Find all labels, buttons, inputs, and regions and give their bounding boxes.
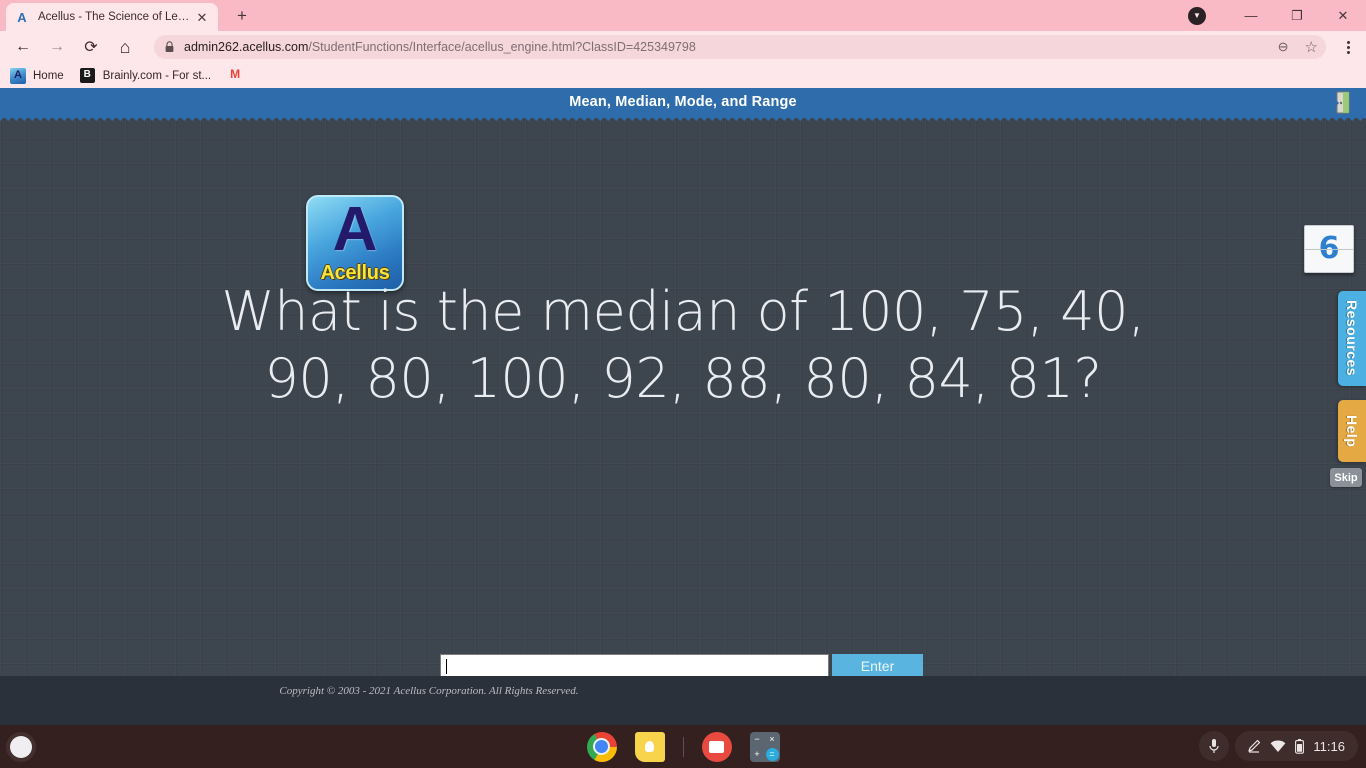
browser-window: A Acellus - The Science of Learning ✕ + … [0,0,1366,725]
chrome-icon[interactable] [587,732,617,762]
window-controls: ▼ — ❐ ✕ [1188,0,1366,31]
browser-tab[interactable]: A Acellus - The Science of Learning ✕ [6,3,218,31]
gmail-icon: M [227,68,243,84]
minimize-button[interactable]: — [1228,0,1274,31]
wifi-icon [1270,740,1286,753]
url-domain: admin262.acellus.com [184,40,308,54]
problem-counter: 6 [1304,225,1354,273]
help-tab[interactable]: Help [1338,400,1366,462]
battery-icon [1295,739,1304,754]
logo-letter: A [308,199,402,261]
acellus-icon: A [10,68,26,84]
acellus-logo: A Acellus [306,195,404,291]
bookmark-label: Brainly.com - For st... [103,70,211,82]
shelf-divider [683,737,684,757]
calc-times: × [769,735,774,744]
lock-icon [164,41,175,53]
copyright-text: Copyright © 2003 - 2021 Acellus Corporat… [0,685,858,697]
answer-input[interactable] [440,654,829,678]
url-path: /StudentFunctions/Interface/acellus_engi… [308,40,695,54]
new-tab-button[interactable]: + [230,4,254,28]
text-caret [446,659,447,674]
bookmark-star-icon[interactable]: ☆ [1305,38,1318,56]
microphone-icon[interactable] [1199,731,1229,761]
home-icon[interactable]: ⌂ [110,32,140,62]
acellus-lesson-page: Mean, Median, Mode, and Range A Acellus … [0,88,1366,725]
bookmark-gmail[interactable]: M [227,68,243,84]
page-footer: Copyright © 2003 - 2021 Acellus Corporat… [0,676,1366,725]
calc-plus: + [754,750,759,759]
zoom-icon[interactable]: ⊖ [1278,39,1289,55]
forward-icon[interactable]: → [42,32,72,62]
address-bar[interactable]: admin262.acellus.com/StudentFunctions/In… [154,35,1326,59]
resources-tab[interactable]: Resources [1338,291,1366,386]
chrome-menu-icon[interactable] [1334,33,1362,61]
status-area[interactable]: 11:16 [1235,731,1358,761]
page-title: Mean, Median, Mode, and Range [0,88,1366,118]
lesson-header-bar: Mean, Median, Mode, and Range [0,88,1366,118]
close-icon[interactable]: ✕ [194,9,210,25]
chromeos-shelf: − × + = [0,725,1366,768]
bookmark-home[interactable]: A Home [10,68,64,84]
maximize-button[interactable]: ❐ [1274,0,1320,31]
clock: 11:16 [1313,739,1345,754]
url-text: admin262.acellus.com/StudentFunctions/In… [184,40,696,54]
browser-toolbar: ← → ⟳ ⌂ admin262.acellus.com/StudentFunc… [0,31,1366,63]
omnibox-icons: ⊖ ☆ [1278,38,1318,56]
counter-value: 6 [1305,226,1353,272]
close-window-button[interactable]: ✕ [1320,0,1366,31]
bookmarks-bar: A Home B Brainly.com - For st... M [0,63,1366,88]
acellus-icon: A [14,9,30,25]
calc-equals: = [766,748,779,761]
keep-icon[interactable] [635,732,665,762]
question-text: What is the median of 100, 75, 40, 90, 8… [183,278,1183,412]
tab-strip: A Acellus - The Science of Learning ✕ + … [0,0,1366,31]
photos-icon[interactable] [702,732,732,762]
profile-avatar[interactable]: ▼ [1188,7,1206,25]
tab-title: Acellus - The Science of Learning [38,11,194,23]
brainly-icon: B [80,68,96,84]
exit-door-icon[interactable] [1332,90,1354,116]
bookmark-brainly[interactable]: B Brainly.com - For st... [80,68,211,84]
shelf-app-list: − × + = [0,725,1366,768]
back-icon[interactable]: ← [8,32,38,62]
calc-minus: − [754,735,759,744]
answer-row: Enter [440,654,923,678]
bookmark-label: Home [33,70,64,82]
system-tray: 11:16 [1199,731,1358,761]
skip-button[interactable]: Skip [1330,468,1362,487]
calculator-icon[interactable]: − × + = [750,732,780,762]
stylus-icon [1247,739,1261,754]
reload-icon[interactable]: ⟳ [76,32,106,62]
enter-button[interactable]: Enter [832,654,923,678]
